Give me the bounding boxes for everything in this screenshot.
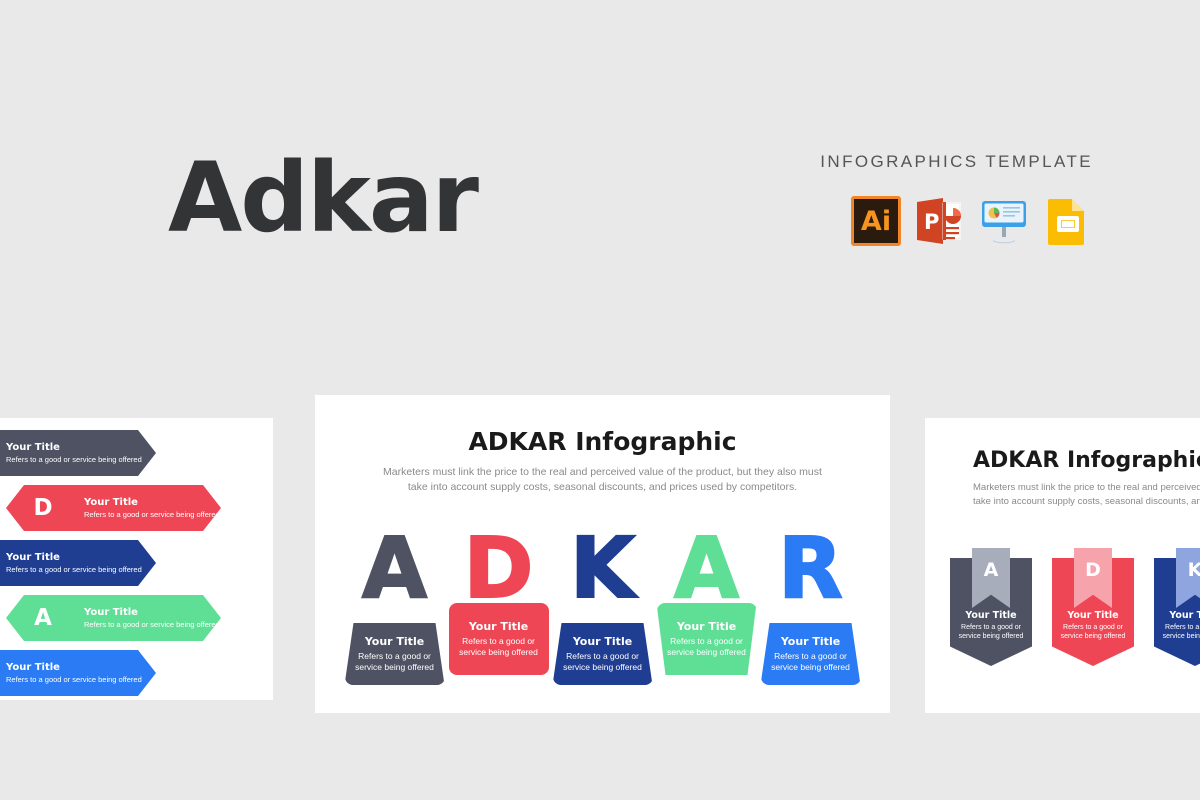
right-slide-subtitle: Marketers must link the price to the rea…: [925, 481, 1200, 509]
adkar-item-a1[interactable]: A Your Title Refers to a good or service…: [347, 523, 443, 693]
item-desc: Refers to a good or service being offere…: [350, 651, 440, 673]
chevron-desc: Refers to a good or service being offere…: [84, 620, 220, 629]
right-subtitle-line1: Marketers must link the price to the rea…: [973, 481, 1200, 495]
ribbon-text: Your Title Refers to a good or service b…: [1052, 610, 1134, 642]
adkar-item-row: A Your Title Refers to a good or service…: [315, 513, 890, 693]
ribbon-letter: A: [984, 561, 999, 580]
ribbon-text: Your Title Refers to a good or service b…: [950, 610, 1032, 642]
chevron-title: Your Title: [6, 552, 142, 564]
letter-outline: A: [659, 523, 755, 613]
ribbon-desc: Refers to a good or service being offere…: [953, 623, 1029, 641]
ribbon-item-a1[interactable]: A Your Title Refers to a good or service…: [950, 548, 1032, 666]
ribbon-text: Your Title Refers to a good or service b…: [1154, 610, 1200, 642]
chevron-r[interactable]: R Your Title Refers to a good or service…: [0, 650, 156, 696]
ribbon-title: Your Title: [953, 610, 1029, 621]
slide-card-left[interactable]: A Your Title Refers to a good or service…: [0, 418, 273, 700]
adkar-item-k[interactable]: K Your Title Refers to a good or service…: [555, 523, 651, 693]
chevron-title: Your Title: [84, 607, 220, 619]
list-item[interactable]: A Your Title Refers to a good or service…: [0, 430, 273, 479]
ribbon-row: A Your Title Refers to a good or service…: [950, 548, 1200, 666]
kicker-label: INFOGRAPHICS TEMPLATE: [820, 152, 1093, 172]
center-slide-subtitle: Marketers must link the price to the rea…: [373, 465, 833, 495]
item-box[interactable]: Your Title Refers to a good or service b…: [657, 603, 757, 675]
item-box[interactable]: Your Title Refers to a good or service b…: [345, 623, 445, 685]
list-item[interactable]: K Your Title Refers to a good or service…: [0, 540, 273, 589]
slide-card-right[interactable]: ADKAR Infographic Marketers must link th…: [925, 418, 1200, 713]
chevron-title: Your Title: [6, 442, 142, 454]
item-box[interactable]: Your Title Refers to a good or service b…: [761, 623, 861, 685]
list-item[interactable]: D Your Title Refers to a good or service…: [0, 485, 273, 534]
ribbon-item-d[interactable]: D Your Title Refers to a good or service…: [1052, 548, 1134, 666]
chevron-list: A Your Title Refers to a good or service…: [0, 430, 273, 700]
keynote-icon[interactable]: [979, 196, 1029, 246]
center-slide-title: ADKAR Infographic: [315, 427, 890, 456]
letter-outline: K: [555, 523, 651, 613]
chevron-title: Your Title: [6, 662, 142, 674]
chevron-title: Your Title: [84, 497, 220, 509]
chevron-a1[interactable]: A Your Title Refers to a good or service…: [0, 430, 156, 476]
slide-card-center[interactable]: ADKAR Infographic Marketers must link th…: [315, 395, 890, 713]
chevron-desc: Refers to a good or service being offere…: [6, 675, 142, 684]
adkar-item-d[interactable]: D Your Title Refers to a good or service…: [451, 523, 547, 693]
adkar-item-r[interactable]: R Your Title Refers to a good or service…: [763, 523, 859, 693]
letter-outline: A: [347, 523, 443, 613]
chevron-d[interactable]: D Your Title Refers to a good or service…: [6, 485, 221, 531]
illustrator-icon-label: Ai: [861, 208, 891, 235]
item-title: Your Title: [469, 620, 528, 634]
right-subtitle-line2: take into account supply costs, seasonal…: [973, 495, 1200, 509]
chevron-letter: D: [20, 497, 66, 520]
item-desc: Refers to a good or service being offere…: [766, 651, 856, 673]
chevron-letter: A: [20, 607, 66, 630]
right-slide-title: ADKAR Infographic: [925, 448, 1200, 473]
chevron-a2[interactable]: A Your Title Refers to a good or service…: [6, 595, 221, 641]
chevron-k[interactable]: K Your Title Refers to a good or service…: [0, 540, 156, 586]
item-title: Your Title: [573, 635, 632, 649]
adobe-illustrator-icon[interactable]: Ai: [851, 196, 901, 246]
powerpoint-icon[interactable]: P: [915, 196, 965, 246]
item-desc: Refers to a good or service being offere…: [662, 636, 752, 658]
ribbon-title: Your Title: [1157, 610, 1200, 621]
item-desc: Refers to a good or service being offere…: [558, 651, 648, 673]
google-slides-icon[interactable]: [1043, 196, 1093, 246]
page-title: Adkar: [168, 150, 477, 246]
item-box[interactable]: Your Title Refers to a good or service b…: [553, 623, 653, 685]
app-icon-row: Ai P: [851, 196, 1093, 246]
adkar-item-a2[interactable]: A Your Title Refers to a good or service…: [659, 523, 755, 693]
ribbon-title: Your Title: [1055, 610, 1131, 621]
chevron-desc: Refers to a good or service being offere…: [84, 510, 220, 519]
chevron-desc: Refers to a good or service being offere…: [6, 565, 142, 574]
ribbon-desc: Refers to a good or service being offere…: [1157, 623, 1200, 641]
item-title: Your Title: [365, 635, 424, 649]
chevron-desc: Refers to a good or service being offere…: [6, 455, 142, 464]
letter-outline: D: [451, 523, 547, 613]
keynote-glyph: [979, 196, 1029, 246]
item-title: Your Title: [677, 620, 736, 634]
svg-text:P: P: [924, 210, 939, 234]
ribbon-letter: K: [1188, 561, 1200, 580]
list-item[interactable]: A Your Title Refers to a good or service…: [0, 595, 273, 644]
letter-outline: R: [763, 523, 859, 613]
ribbon-letter: D: [1085, 561, 1101, 580]
powerpoint-glyph: P: [915, 196, 965, 246]
item-box[interactable]: Your Title Refers to a good or service b…: [449, 603, 549, 675]
ribbon-desc: Refers to a good or service being offere…: [1055, 623, 1131, 641]
list-item[interactable]: R Your Title Refers to a good or service…: [0, 650, 273, 699]
slides-glyph: [1043, 196, 1093, 246]
item-desc: Refers to a good or service being offere…: [454, 636, 544, 658]
ribbon-item-k[interactable]: K Your Title Refers to a good or service…: [1154, 548, 1200, 666]
item-title: Your Title: [781, 635, 840, 649]
